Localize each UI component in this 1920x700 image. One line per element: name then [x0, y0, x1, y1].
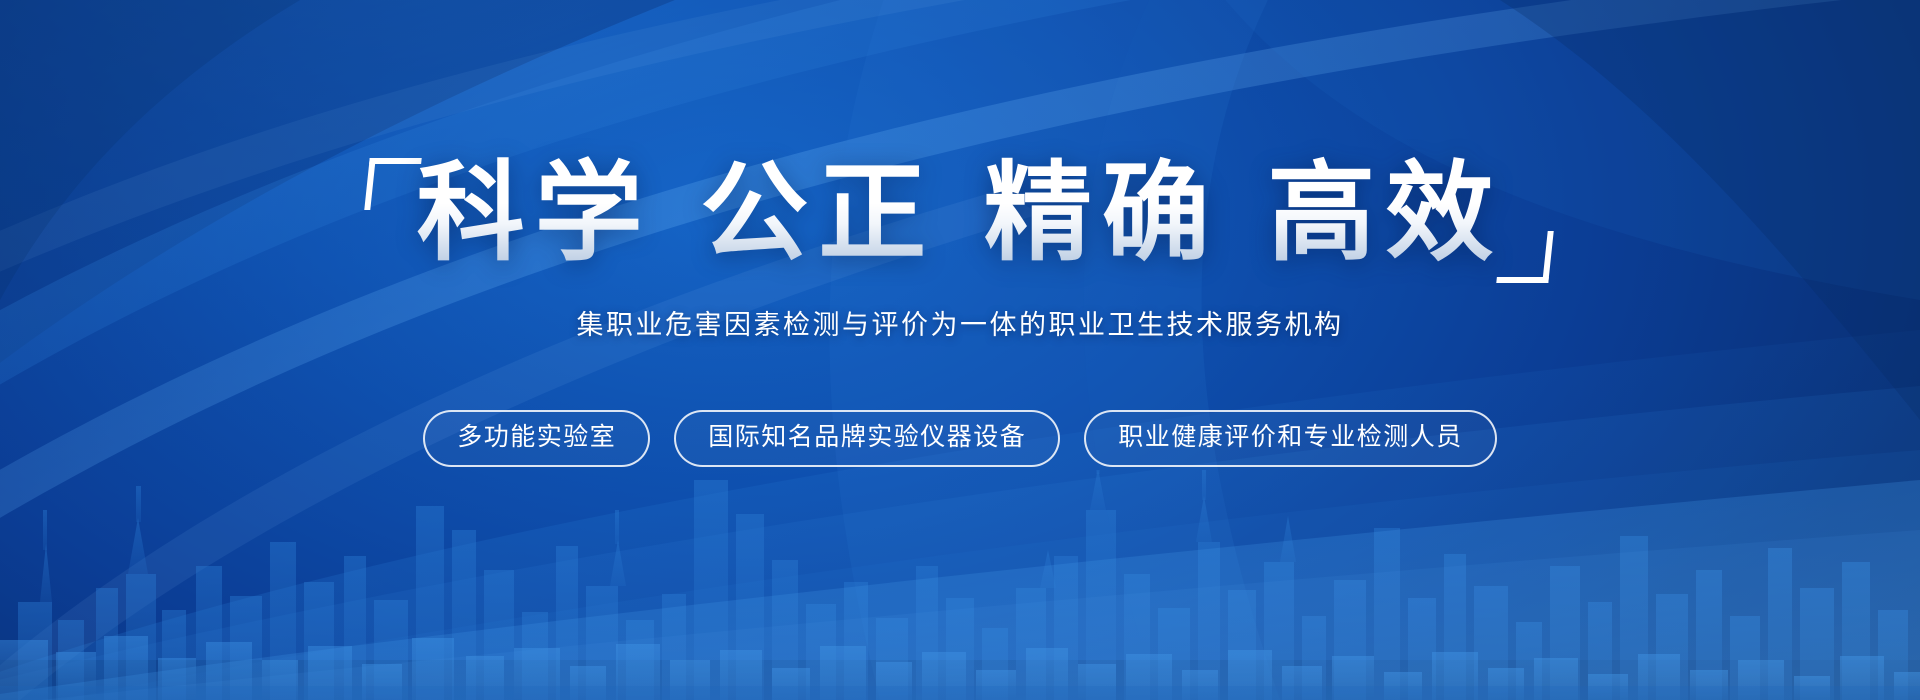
feature-pill-list: 多功能实验室 国际知名品牌实验仪器设备 职业健康评价和专业检测人员 — [423, 410, 1497, 467]
page-title: 科学 公正 精确 高效 — [417, 150, 1504, 277]
feature-pill-equipment[interactable]: 国际知名品牌实验仪器设备 — [674, 410, 1060, 467]
banner-content: 科学 公正 精确 高效 集职业危害因素检测与评价为一体的职业卫生技术服务机构 多… — [0, 0, 1920, 700]
close-bracket-icon — [1497, 231, 1554, 283]
feature-pill-lab[interactable]: 多功能实验室 — [423, 410, 650, 467]
headline-block: 科学 公正 精确 高效 — [373, 150, 1548, 277]
hero-banner: 科学 公正 精确 高效 集职业危害因素检测与评价为一体的职业卫生技术服务机构 多… — [0, 0, 1920, 700]
banner-subtitle: 集职业危害因素检测与评价为一体的职业卫生技术服务机构 — [577, 303, 1344, 342]
open-bracket-icon — [364, 158, 421, 210]
feature-pill-staff[interactable]: 职业健康评价和专业检测人员 — [1084, 410, 1497, 467]
